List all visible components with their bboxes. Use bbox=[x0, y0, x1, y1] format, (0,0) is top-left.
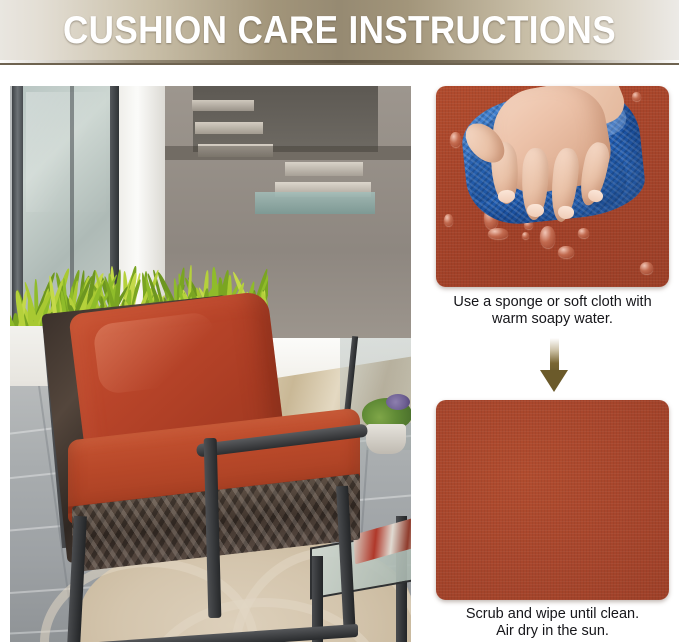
caption-line-2: warm soapy water. bbox=[436, 311, 669, 328]
arrow-down-icon bbox=[540, 338, 568, 392]
water-droplet bbox=[558, 246, 574, 258]
step-dry-image bbox=[436, 400, 669, 600]
arrow-shaft bbox=[550, 338, 559, 374]
water-droplet bbox=[444, 214, 453, 226]
background-window bbox=[193, 86, 378, 152]
plant-pot bbox=[366, 424, 406, 454]
stair-step bbox=[192, 100, 254, 111]
potted-plant-flower bbox=[386, 394, 410, 410]
water-droplet bbox=[578, 228, 589, 238]
arrow-head bbox=[540, 370, 568, 392]
step-wipe-caption: Use a sponge or soft cloth with warm soa… bbox=[436, 294, 669, 328]
water-droplet bbox=[640, 262, 653, 274]
header-banner: CUSHION CARE INSTRUCTIONS bbox=[0, 0, 679, 65]
caption-line-2: Air dry in the sun. bbox=[436, 623, 669, 640]
fabric-texture bbox=[436, 400, 669, 600]
water-droplet bbox=[450, 132, 461, 147]
glass-reflection bbox=[26, 92, 106, 212]
water-droplet bbox=[522, 232, 529, 239]
caption-line-1: Scrub and wipe until clean. bbox=[436, 606, 669, 623]
glass-railing-panel bbox=[255, 192, 375, 214]
instruction-steps-column: Use a sponge or soft cloth with warm soa… bbox=[436, 86, 669, 642]
step-dry-caption: Scrub and wipe until clean. Air dry in t… bbox=[436, 606, 669, 640]
water-droplet bbox=[632, 92, 641, 101]
step-wipe-image bbox=[436, 86, 669, 287]
wall-shadow bbox=[162, 146, 411, 160]
water-droplet bbox=[540, 226, 555, 248]
caption-line-1: Use a sponge or soft cloth with bbox=[436, 294, 669, 311]
water-droplet bbox=[488, 228, 508, 239]
cushion-highlight bbox=[92, 311, 220, 395]
product-lifestyle-photo: EASY TO CLEAN bbox=[10, 86, 411, 642]
page-title: CUSHION CARE INSTRUCTIONS bbox=[34, 0, 645, 62]
stair-step bbox=[195, 122, 263, 134]
stair-step bbox=[285, 162, 363, 176]
